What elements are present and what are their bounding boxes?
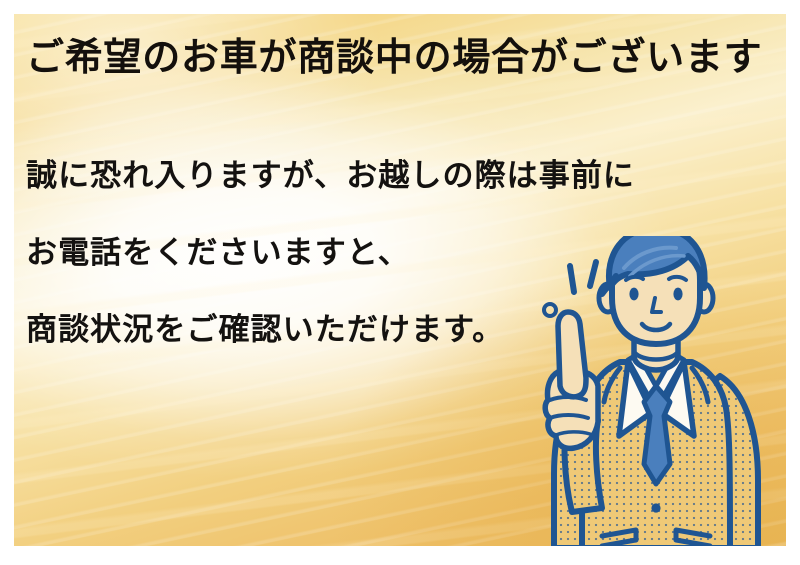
background-streaks-primary (14, 14, 786, 546)
background-glow-top-left (14, 14, 377, 216)
background-shade-bottom-right (323, 269, 786, 546)
gold-gradient-panel (14, 14, 786, 546)
background-streaks-secondary (14, 14, 786, 546)
notice-banner: ご希望のお車が商談中の場合がございます 誠に恐れ入りますが、お越しの際は事前に … (0, 0, 800, 565)
